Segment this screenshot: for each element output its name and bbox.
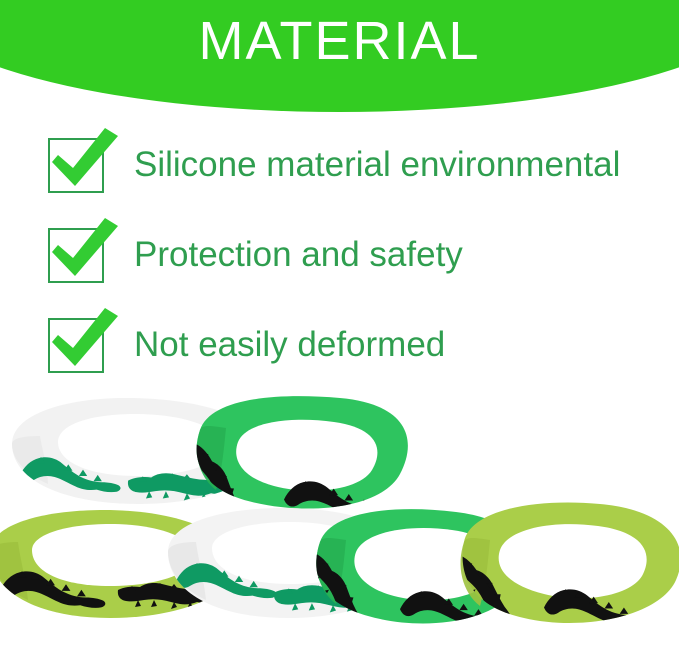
bracelets-illustration — [0, 392, 679, 661]
checkbox-outline — [48, 318, 104, 373]
feature-label: Protection and safety — [134, 237, 463, 274]
feature-item-3: Not easily deformed — [0, 300, 679, 390]
page-title: MATERIAL — [0, 14, 679, 68]
feature-label: Silicone material environmental — [134, 147, 620, 184]
checkbox-checked-icon — [46, 310, 126, 380]
feature-item-1: Silicone material environmental — [0, 120, 679, 210]
material-infographic: MATERIAL Silicone material environmental… — [0, 0, 679, 661]
feature-label: Not easily deformed — [134, 327, 445, 364]
checkbox-outline — [48, 228, 104, 283]
product-photo — [0, 392, 679, 661]
checkbox-checked-icon — [46, 130, 126, 200]
feature-list: Silicone material environmental Protecti… — [0, 120, 679, 390]
feature-item-2: Protection and safety — [0, 210, 679, 300]
bracelet-bottom-lime-2 — [445, 503, 679, 643]
header-banner: MATERIAL — [0, 0, 679, 112]
checkbox-checked-icon — [46, 220, 126, 290]
checkbox-outline — [48, 138, 104, 193]
